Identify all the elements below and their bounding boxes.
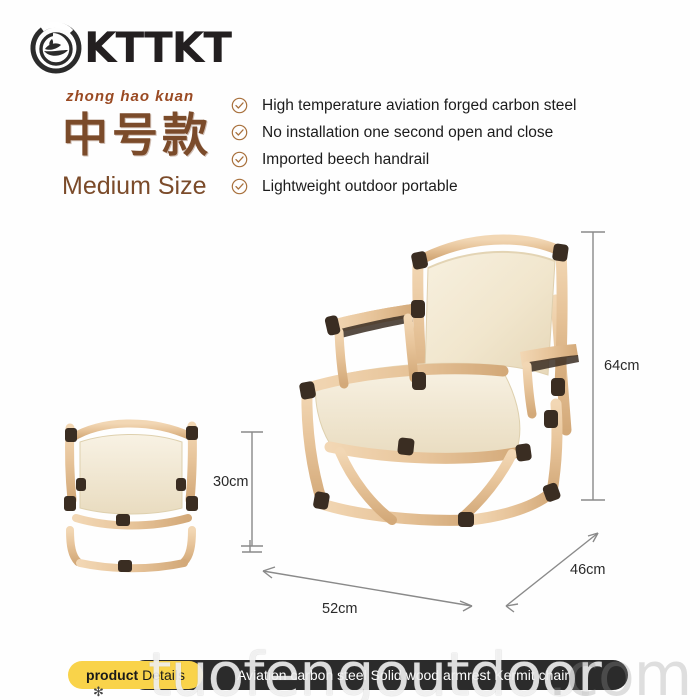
kermit-chair-folded-illustration: [64, 423, 198, 572]
feature-item: No installation one second open and clos…: [231, 119, 577, 146]
brand-name: KTTKT: [84, 22, 231, 74]
check-circle-icon: [231, 151, 248, 168]
check-circle-icon: [231, 124, 248, 141]
asterisk-mark: ✻: [93, 684, 104, 700]
check-circle-icon: [231, 97, 248, 114]
dimension-height-label: 64cm: [604, 358, 639, 374]
feature-item: High temperature aviation forged carbon …: [231, 92, 577, 119]
dimension-depth-label: 46cm: [570, 562, 605, 578]
size-english-title: Medium Size: [62, 172, 207, 201]
size-chinese-title: 中号款: [62, 108, 212, 162]
dimension-folded-height-label: 30cm: [213, 474, 248, 490]
watermark-domain-suffix: .com: [548, 640, 691, 700]
check-circle-icon: [231, 178, 248, 195]
pill-strong-label: product: [86, 667, 138, 683]
product-infographic: KTTKT zhong hao kuan 中号款 Medium Size Hig…: [0, 0, 700, 700]
feature-label: Lightweight outdoor portable: [262, 178, 458, 196]
feature-label: High temperature aviation forged carbon …: [262, 97, 577, 115]
feature-label: No installation one second open and clos…: [262, 124, 553, 142]
feature-item: Imported beech handrail: [231, 146, 577, 173]
feature-list: High temperature aviation forged carbon …: [231, 92, 577, 200]
feature-label: Imported beech handrail: [262, 151, 429, 169]
dimension-width-label: 52cm: [322, 601, 357, 617]
brand-logo: KTTKT: [30, 22, 231, 74]
leaf-circle-emblem-icon: [30, 22, 82, 74]
feature-item: Lightweight outdoor portable: [231, 173, 577, 200]
kermit-chair-open-illustration: [299, 240, 579, 527]
size-pinyin: zhong hao kuan: [66, 88, 194, 105]
dimension-lines: [241, 232, 605, 612]
watermark-text: tuofengoutdoor: [148, 640, 601, 700]
